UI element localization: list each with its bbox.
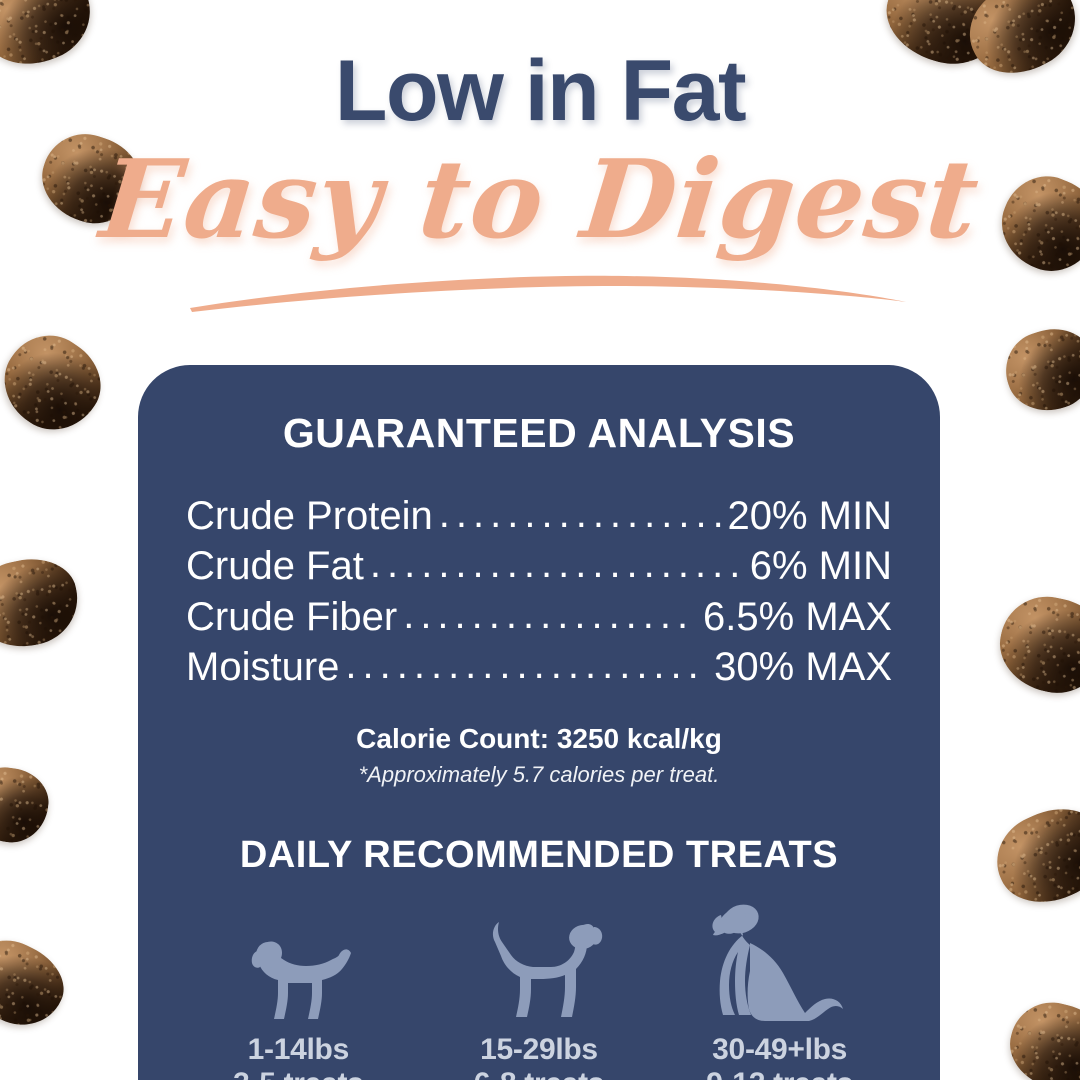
kibble-treat-icon	[0, 550, 86, 656]
script-underline-icon	[186, 268, 910, 314]
nutrition-card: GUARANTEED ANALYSIS Crude Protein ......…	[138, 365, 940, 1080]
analysis-value: 6.5% MAX	[703, 592, 892, 642]
calorie-note: *Approximately 5.7 calories per treat.	[138, 762, 940, 788]
kibble-treat-icon	[0, 319, 117, 447]
kibble-treat-icon	[0, 926, 76, 1039]
dog-treat-count: 3-5 treats	[233, 1067, 363, 1080]
kibble-treat-icon	[983, 793, 1080, 918]
dog-treat-count: 6-8 treats	[474, 1067, 604, 1080]
leader-dots: ..............................	[370, 539, 744, 589]
dog-size-label: 1-14lbs 3-5 treats	[233, 1033, 363, 1080]
dog-weight-range: 30-49+lbs	[706, 1033, 853, 1067]
large-dog-icon	[705, 899, 855, 1027]
headline-script: Easy to Digest	[0, 146, 1080, 254]
leader-dots: ..............................	[439, 489, 722, 539]
kibble-treat-icon	[996, 318, 1080, 421]
analysis-value: 30% MAX	[714, 642, 892, 692]
analysis-label: Crude Protein	[186, 491, 433, 541]
leader-dots: ..............................	[345, 640, 708, 690]
analysis-value: 20% MIN	[728, 491, 893, 541]
dog-weight-range: 15-29lbs	[474, 1033, 604, 1067]
dog-size-guide: 1-14lbs 3-5 treats 15-29lbs 6-8 treats	[178, 899, 900, 1080]
page-title: Low in Fat	[0, 0, 1080, 134]
kibble-treat-icon	[1001, 994, 1080, 1080]
guaranteed-analysis-heading: GUARANTEED ANALYSIS	[138, 365, 940, 457]
dog-treat-count: 9-12 treats	[706, 1067, 853, 1080]
leader-dots: ..............................	[403, 590, 697, 640]
dog-size-medium: 15-29lbs 6-8 treats	[420, 915, 658, 1080]
dog-size-label: 15-29lbs 6-8 treats	[474, 1033, 604, 1080]
table-row: Crude Fat ..............................…	[186, 541, 892, 591]
dog-weight-range: 1-14lbs	[233, 1033, 363, 1067]
dog-size-label: 30-49+lbs 9-12 treats	[706, 1033, 853, 1080]
analysis-label: Crude Fiber	[186, 592, 397, 642]
analysis-value: 6% MIN	[750, 541, 892, 591]
table-row: Moisture .............................. …	[186, 642, 892, 692]
guaranteed-analysis-table: Crude Protein ..........................…	[186, 491, 892, 693]
kibble-treat-icon	[0, 763, 53, 847]
dog-size-small: 1-14lbs 3-5 treats	[179, 931, 417, 1080]
poster-canvas: Low in Fat Easy to Digest GUARANTEED ANA…	[0, 0, 1080, 1080]
medium-dog-icon	[473, 915, 605, 1027]
headline-block: Low in Fat Easy to Digest	[0, 0, 1080, 134]
small-dog-icon	[238, 931, 358, 1027]
daily-treats-heading: DAILY RECOMMENDED TREATS	[138, 834, 940, 877]
dog-size-large: 30-49+lbs 9-12 treats	[661, 899, 899, 1080]
analysis-label: Crude Fat	[186, 541, 364, 591]
analysis-label: Moisture	[186, 642, 339, 692]
calorie-count: Calorie Count: 3250 kcal/kg	[138, 723, 940, 755]
kibble-treat-icon	[991, 588, 1080, 702]
table-row: Crude Protein ..........................…	[186, 491, 892, 541]
table-row: Crude Fiber ............................…	[186, 592, 892, 642]
